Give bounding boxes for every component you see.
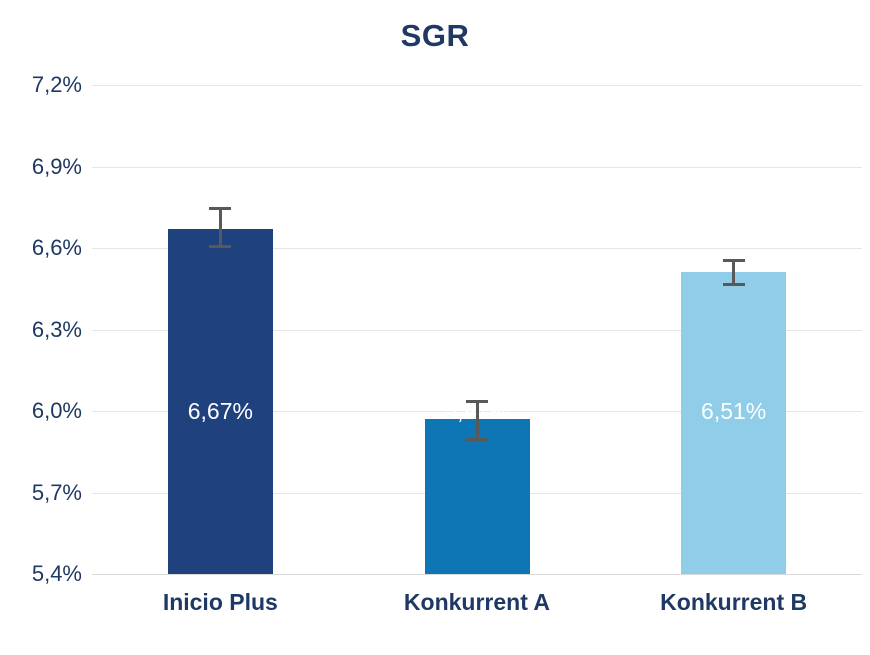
x-axis-category-label: Inicio Plus bbox=[92, 588, 349, 616]
error-bar-stem bbox=[219, 207, 222, 248]
bar-value-label: 6,51% bbox=[681, 400, 786, 423]
x-axis-category-labels: Inicio PlusKonkurrent AKonkurrent B bbox=[92, 588, 862, 628]
gridline bbox=[92, 85, 862, 86]
bar-value-label: 6,67% bbox=[168, 400, 273, 423]
error-bar bbox=[205, 207, 235, 248]
bar[interactable]: 6,67% bbox=[168, 229, 273, 574]
y-axis-tick-label: 6,3% bbox=[2, 319, 82, 341]
chart-title: SGR bbox=[0, 18, 870, 54]
sgr-bar-chart: SGR 7,2%6,9%6,6%6,3%6,0%5,7%5,4% 6,67%5,… bbox=[0, 0, 870, 655]
bar[interactable]: 5,97% bbox=[425, 419, 530, 574]
y-axis-tick-label: 5,7% bbox=[2, 482, 82, 504]
x-axis-category-label: Konkurrent B bbox=[605, 588, 862, 616]
gridline bbox=[92, 574, 862, 575]
error-bar bbox=[462, 400, 492, 441]
gridline bbox=[92, 167, 862, 168]
y-axis-tick-label: 6,0% bbox=[2, 400, 82, 422]
error-bar bbox=[719, 259, 749, 286]
error-bar-cap-top bbox=[209, 207, 231, 210]
plot-area: 6,67%5,97%6,51% bbox=[92, 85, 862, 574]
bar[interactable]: 6,51% bbox=[681, 272, 786, 574]
error-bar-stem bbox=[732, 259, 735, 286]
error-bar-cap-top bbox=[723, 259, 745, 262]
x-axis-category-label: Konkurrent A bbox=[349, 588, 606, 616]
y-axis-tick-label: 6,6% bbox=[2, 237, 82, 259]
y-axis-tick-label: 5,4% bbox=[2, 563, 82, 585]
error-bar-stem bbox=[476, 400, 479, 441]
y-axis: 7,2%6,9%6,6%6,3%6,0%5,7%5,4% bbox=[0, 85, 82, 574]
error-bar-cap-bottom bbox=[209, 245, 231, 248]
error-bar-cap-bottom bbox=[723, 283, 745, 286]
error-bar-cap-bottom bbox=[466, 438, 488, 441]
y-axis-tick-label: 6,9% bbox=[2, 156, 82, 178]
error-bar-cap-top bbox=[466, 400, 488, 403]
y-axis-tick-label: 7,2% bbox=[2, 74, 82, 96]
